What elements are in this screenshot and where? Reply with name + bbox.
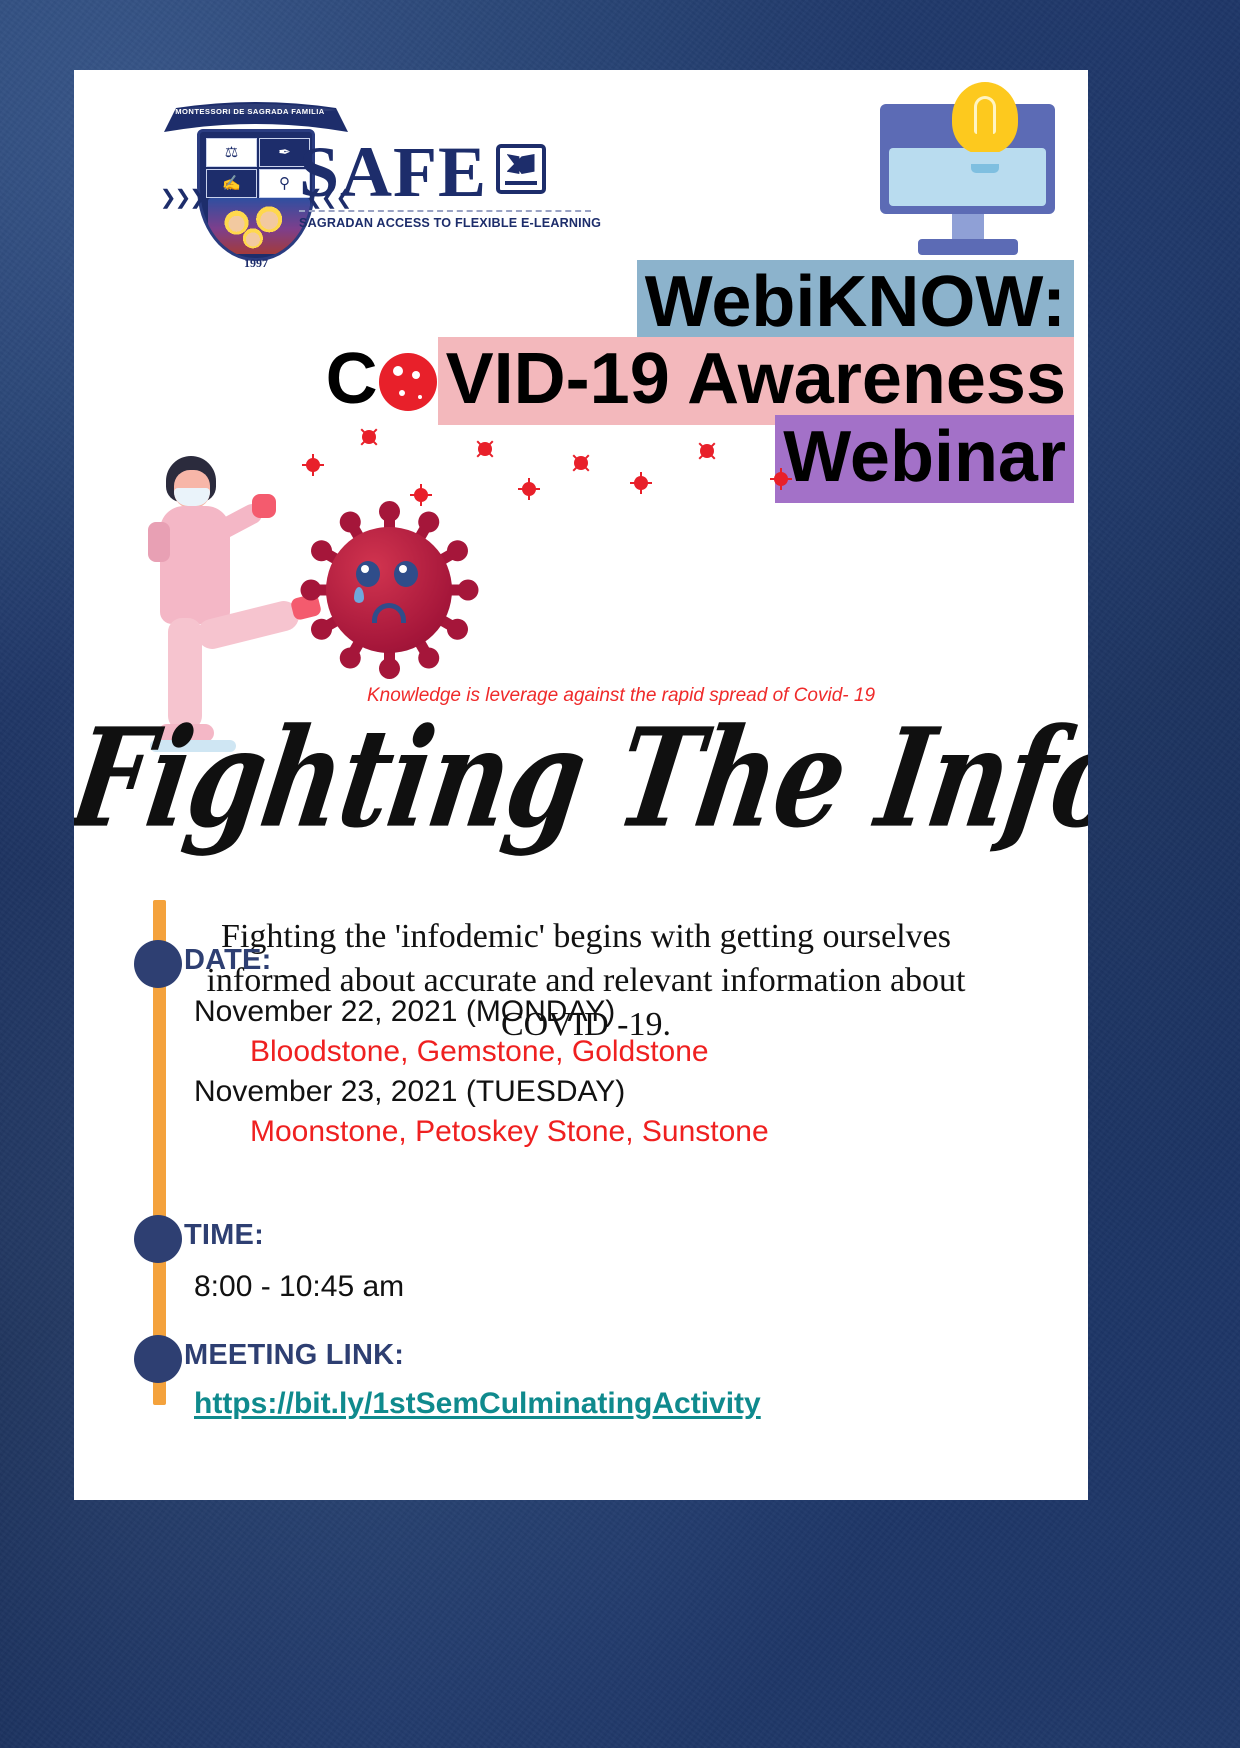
date-line-1: November 22, 2021 (MONDAY) — [194, 992, 1014, 1032]
virus-eye-left — [356, 561, 380, 587]
mini-virus-icon — [306, 458, 320, 472]
mini-virus-icon — [571, 453, 591, 473]
date-line-2-sections: Moonstone, Petoskey Stone, Sunstone — [194, 1112, 1014, 1152]
headline-line-1: WebiKNOW: — [184, 266, 1074, 339]
virus-eye-right — [394, 561, 418, 587]
safe-wordmark: SAFE — [299, 136, 487, 208]
poster-card: MONTESSORI DE SAGRADA FAMILIA ⚖ ✒ ✍ — [74, 70, 1088, 1500]
monitor-book-icon — [496, 144, 546, 194]
headline-line-3-text: Webinar — [775, 415, 1074, 503]
time-values: 8:00 - 10:45 am — [194, 1267, 1014, 1307]
mini-virus-icon — [475, 439, 495, 459]
lightbulb-filament — [974, 96, 996, 134]
crest-banner-text: MONTESSORI DE SAGRADA FAMILIA — [156, 107, 344, 116]
meeting-link-values: https://bit.ly/1stSemCulminatingActivity — [194, 1387, 1014, 1421]
school-logo: MONTESSORI DE SAGRADA FAMILIA ⚖ ✒ ✍ — [94, 88, 614, 278]
time-heading: TIME: — [184, 1219, 264, 1252]
crest-quadrant-hand: ✍ — [206, 169, 257, 198]
lightbulb-neck — [968, 152, 1002, 164]
timeline-dot-meeting — [134, 1335, 182, 1383]
date-heading: DATE: — [184, 944, 271, 977]
meeting-link-heading: MEETING LINK: — [184, 1339, 404, 1372]
mini-virus-icon — [522, 482, 536, 496]
virus-tear — [354, 587, 364, 603]
headline-line-3: Webinar — [184, 421, 1074, 494]
nurse-glove — [252, 494, 276, 518]
holy-family-illustration — [208, 198, 310, 254]
lightbulb-screw-base — [971, 164, 999, 173]
crest-shield: ⚖ ✒ ✍ ⚲ — [197, 129, 315, 261]
monitor-stand-base — [918, 239, 1018, 255]
mini-virus-icon — [774, 472, 788, 486]
virus-letter-o-icon — [379, 353, 437, 411]
crest-quadrants: ⚖ ✒ ✍ ⚲ — [206, 138, 312, 200]
timeline-dot-time — [134, 1215, 182, 1263]
hand-icon: ✍ — [207, 174, 256, 194]
sad-virus-illustration — [294, 495, 484, 685]
crest-quadrant-scales: ⚖ — [206, 138, 257, 167]
mini-virus-icon — [359, 427, 379, 447]
safe-tagline: SAGRADAN ACCESS TO FLEXIBLE E-LEARNING — [299, 216, 609, 230]
time-value: 8:00 - 10:45 am — [194, 1267, 1014, 1307]
headline-covid-c: C — [326, 339, 378, 419]
mini-virus-icon — [634, 476, 648, 490]
headline-line-2-text: VID-19 Awareness — [438, 337, 1074, 425]
nurse-bag — [148, 522, 170, 562]
monitor-stand-neck — [952, 214, 984, 242]
safe-wordmark-block: SAFE SAGRADAN ACCESS TO FLEXIBLE E-LEARN… — [299, 136, 609, 230]
headline-line-1-text: WebiKNOW: — [637, 260, 1074, 348]
mini-virus-icon — [697, 441, 717, 461]
date-line-2: November 23, 2021 (TUESDAY) — [194, 1072, 1014, 1112]
date-line-1-sections: Bloodstone, Gemstone, Goldstone — [194, 1032, 1014, 1072]
scales-icon: ⚖ — [207, 143, 256, 163]
script-title: Fighting The Infodemic — [74, 705, 1088, 854]
headline-line-2: CVID-19 Awareness — [184, 343, 1074, 416]
laurel-left-icon: ❮❮❮ — [172, 192, 206, 205]
timeline-dot-date — [134, 940, 182, 988]
virus-body — [326, 527, 452, 653]
date-values: November 22, 2021 (MONDAY) Bloodstone, G… — [194, 992, 1014, 1152]
meeting-link-url[interactable]: https://bit.ly/1stSemCulminatingActivity — [194, 1387, 761, 1420]
poster-root: MONTESSORI DE SAGRADA FAMILIA ⚖ ✒ ✍ — [0, 0, 1240, 1748]
monitor-lightbulb-illustration — [880, 82, 1070, 272]
